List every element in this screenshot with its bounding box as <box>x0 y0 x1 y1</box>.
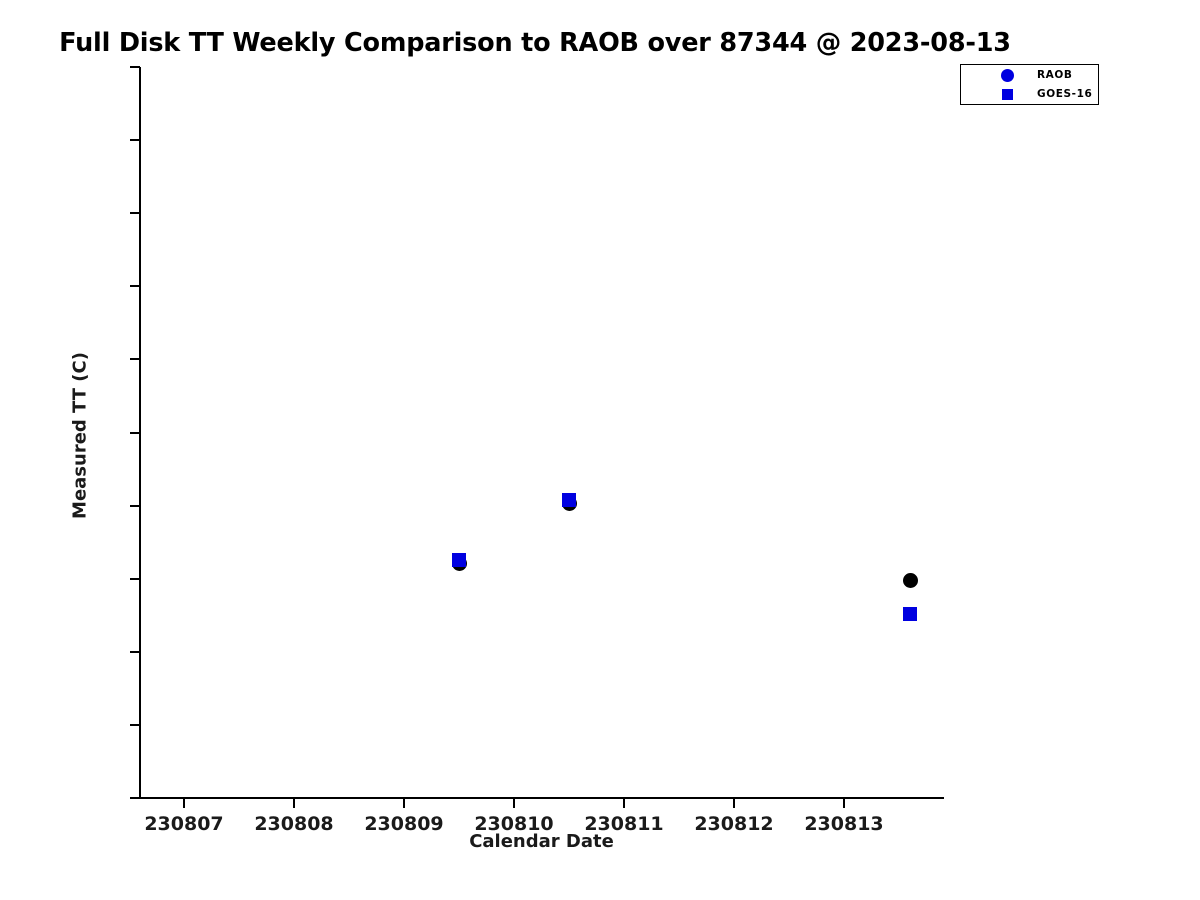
y-tick-mark <box>130 578 140 580</box>
y-tick-mark <box>130 432 140 434</box>
x-tick-mark <box>183 798 185 808</box>
y-tick-mark <box>130 139 140 141</box>
x-tick-mark <box>293 798 295 808</box>
data-point-raob <box>903 573 918 588</box>
legend-marker-square-icon <box>1002 89 1013 100</box>
chart-title: Full Disk TT Weekly Comparison to RAOB o… <box>0 28 1070 58</box>
legend-item: RAOB <box>961 66 1100 85</box>
y-tick-mark <box>130 505 140 507</box>
x-tick-mark <box>623 798 625 808</box>
chart-legend: RAOBGOES-16 <box>960 64 1099 105</box>
chart-figure: Full Disk TT Weekly Comparison to RAOB o… <box>0 0 1200 900</box>
data-point-goes-16 <box>903 607 917 621</box>
y-tick-mark <box>130 66 140 68</box>
x-tick-mark <box>733 798 735 808</box>
data-point-goes-16 <box>562 493 576 507</box>
x-tick-mark <box>513 798 515 808</box>
plot-area: 0102030405060708090100 23080723080823080… <box>140 67 943 798</box>
data-point-goes-16 <box>452 553 466 567</box>
y-tick-mark <box>130 797 140 799</box>
x-tick-mark <box>403 798 405 808</box>
y-tick-mark <box>130 285 140 287</box>
legend-marker-circle-icon <box>1001 69 1014 82</box>
y-tick-mark <box>130 212 140 214</box>
y-tick-mark <box>130 358 140 360</box>
legend-label: GOES-16 <box>1037 88 1092 100</box>
y-tick-mark <box>130 724 140 726</box>
legend-item: GOES-16 <box>961 85 1100 104</box>
x-tick-mark <box>843 798 845 808</box>
x-axis-title: Calendar Date <box>140 831 943 852</box>
y-axis-title: Measured TT (C) <box>70 66 91 806</box>
y-tick-mark <box>130 651 140 653</box>
legend-label: RAOB <box>1037 69 1073 81</box>
